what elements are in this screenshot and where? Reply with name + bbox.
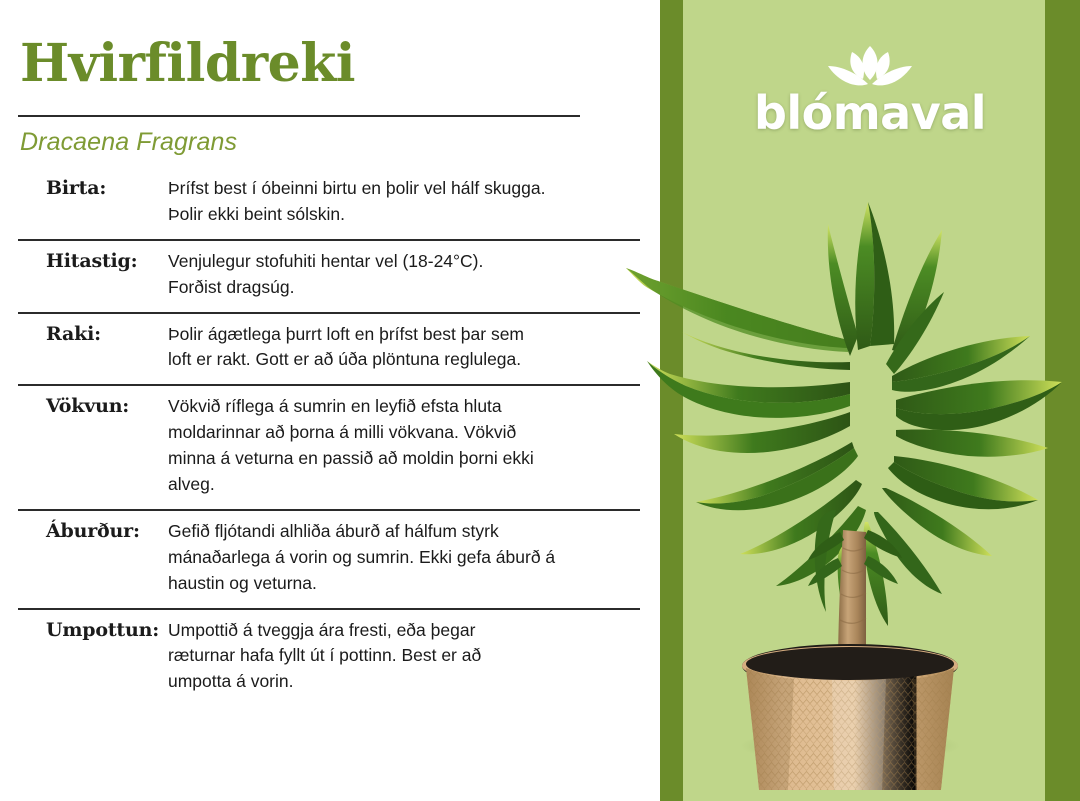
care-row-birta: Birta: Þrífst best í óbeinni birtu en þo… xyxy=(18,168,640,239)
care-label: Áburður: xyxy=(18,519,168,543)
care-label: Raki: xyxy=(18,322,168,346)
woven-texture-plant-pot xyxy=(742,644,958,790)
page-title: Hvirfildreki xyxy=(20,38,355,90)
care-label: Vökvun: xyxy=(18,394,168,418)
care-label: Hitastig: xyxy=(18,249,168,273)
care-label: Birta: xyxy=(18,176,168,200)
care-table: Birta: Þrífst best í óbeinni birtu en þo… xyxy=(0,168,660,706)
plant-care-card: blómaval Hvirfildreki Dracaena Fragrans … xyxy=(0,0,1080,801)
info-column: Hvirfildreki Dracaena Fragrans Birta: Þr… xyxy=(0,0,660,801)
care-row-umpottun: Umpottun: Umpottið á tveggja ára fresti,… xyxy=(18,608,640,707)
title-divider xyxy=(18,115,580,117)
dracaena-fragrans-plant xyxy=(600,150,1080,790)
care-text: Gefið fljótandi alhliða áburð af hálfum … xyxy=(168,519,640,597)
care-text: Þolir ágætlega þurrt loft en þrífst best… xyxy=(168,322,640,374)
care-text: Umpottið á tveggja ára fresti, eða þegar… xyxy=(168,618,640,696)
care-row-hitastig: Hitastig: Venjulegur stofuhiti hentar ve… xyxy=(18,239,640,312)
care-label: Umpottun: xyxy=(18,618,168,642)
care-text: Þrífst best í óbeinni birtu en þolir vel… xyxy=(168,176,640,228)
care-row-raki: Raki: Þolir ágætlega þurrt loft en þrífs… xyxy=(18,312,640,385)
latin-name: Dracaena Fragrans xyxy=(20,128,237,157)
care-row-aburdur: Áburður: Gefið fljótandi alhliða áburð a… xyxy=(18,509,640,608)
care-text: Vökvið ríflega á sumrin en leyfið efsta … xyxy=(168,394,640,498)
care-row-vokvun: Vökvun: Vökvið ríflega á sumrin en leyfi… xyxy=(18,384,640,509)
care-text: Venjulegur stofuhiti hentar vel (18-24°C… xyxy=(168,249,640,301)
